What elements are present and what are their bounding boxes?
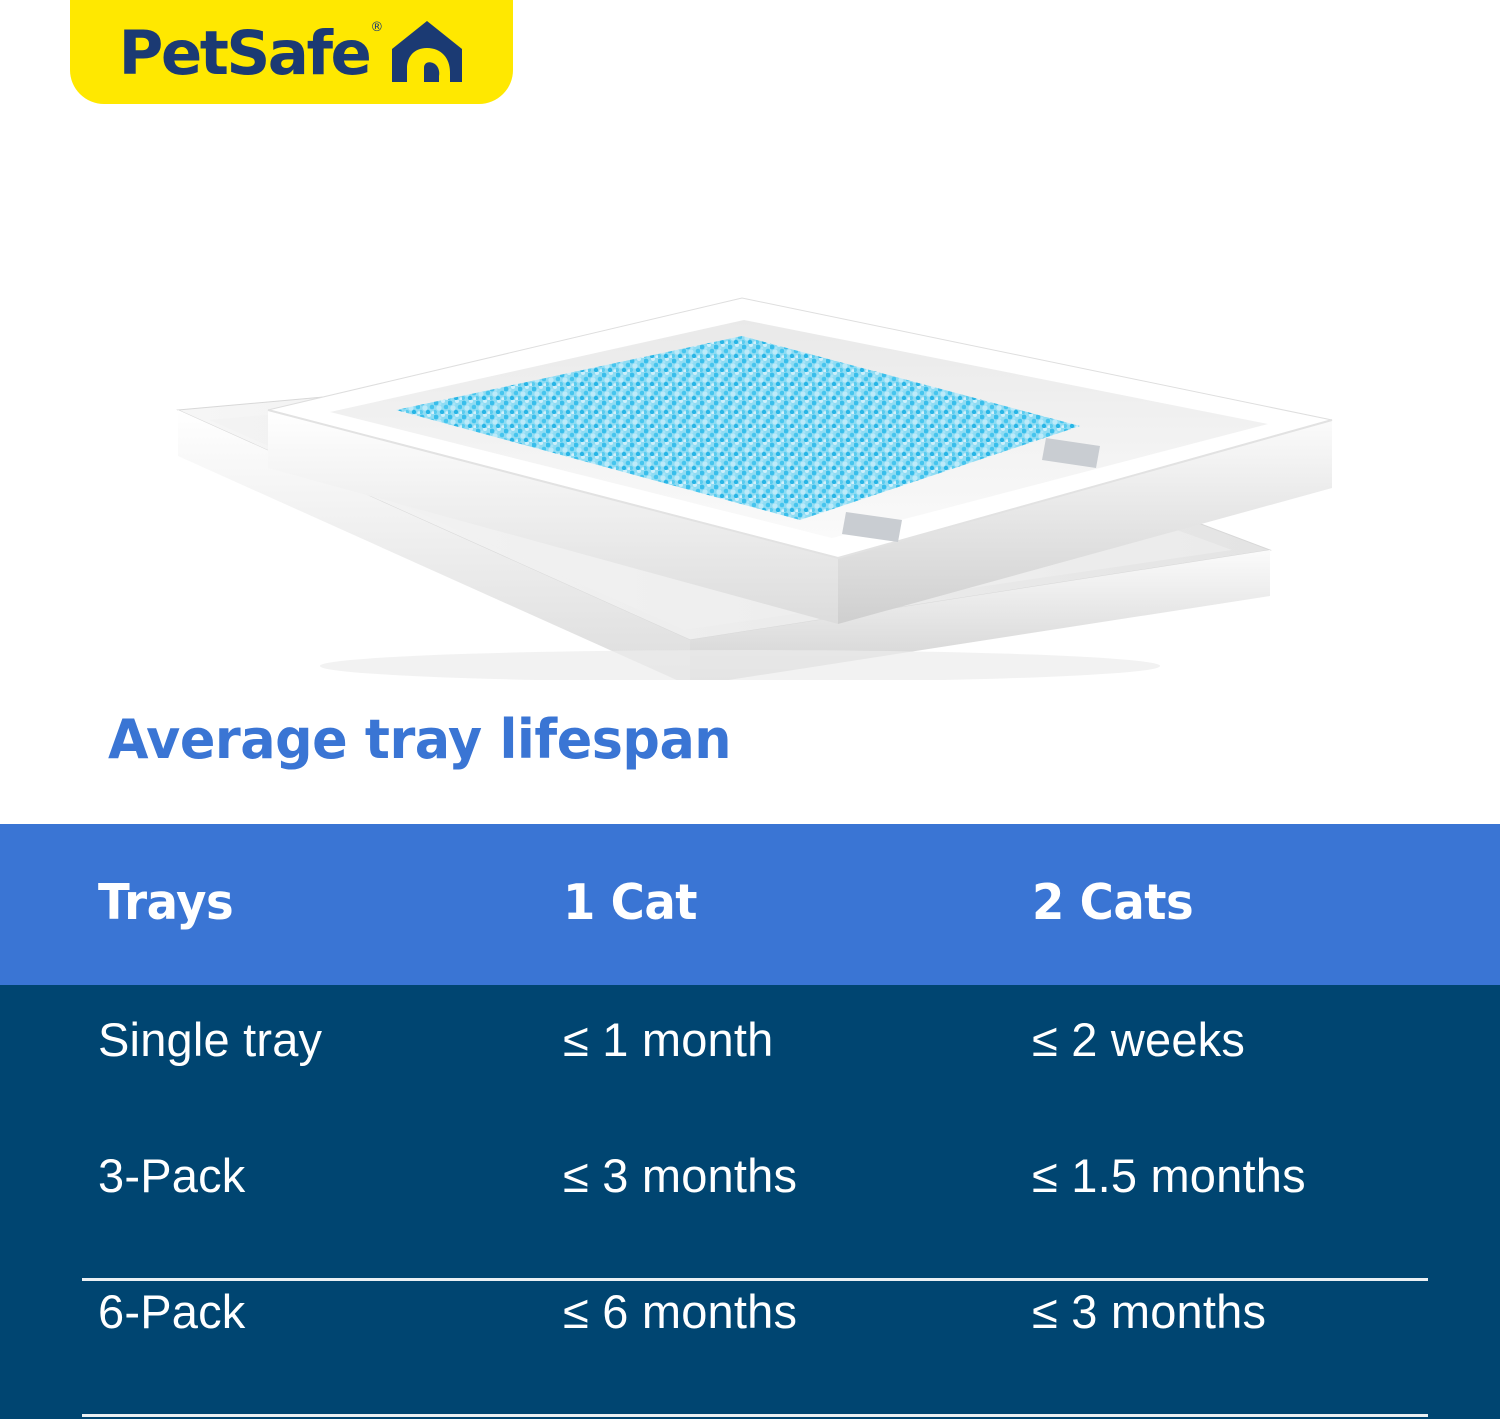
table-body: Single tray ≤ 1 month ≤ 2 weeks 3-Pack ≤… — [0, 985, 1500, 1419]
column-header-two-cats: 2 Cats — [1032, 874, 1193, 931]
cell-one-cat: ≤ 3 months — [563, 1148, 797, 1203]
brand-wordmark: PetSafe — [119, 23, 370, 84]
product-infographic-page: PetSafe ® — [0, 0, 1500, 1419]
registered-trademark-symbol: ® — [370, 20, 383, 35]
cell-two-cats: ≤ 1.5 months — [1032, 1148, 1306, 1203]
brand-logo-badge: PetSafe ® — [70, 0, 513, 104]
cell-trays: 6-Pack — [98, 1284, 245, 1339]
cell-trays: Single tray — [98, 1012, 322, 1067]
cell-one-cat: ≤ 6 months — [563, 1284, 797, 1339]
cell-two-cats: ≤ 2 weeks — [1032, 1012, 1245, 1067]
tray-lifespan-table: Trays 1 Cat 2 Cats Single tray ≤ 1 month… — [0, 824, 1500, 1419]
column-header-trays: Trays — [98, 874, 233, 931]
page-title: Average tray lifespan — [108, 712, 731, 769]
litter-tray-illustration — [0, 120, 1500, 680]
row-divider — [82, 1414, 1428, 1417]
column-header-one-cat: 1 Cat — [563, 874, 697, 931]
cell-two-cats: ≤ 3 months — [1032, 1284, 1266, 1339]
cell-trays: 3-Pack — [98, 1148, 245, 1203]
cell-one-cat: ≤ 1 month — [563, 1012, 773, 1067]
row-divider — [82, 1278, 1428, 1281]
house-with-dog-icon — [390, 20, 464, 89]
table-header-row: Trays 1 Cat 2 Cats — [0, 824, 1500, 985]
product-photo — [0, 120, 1500, 680]
